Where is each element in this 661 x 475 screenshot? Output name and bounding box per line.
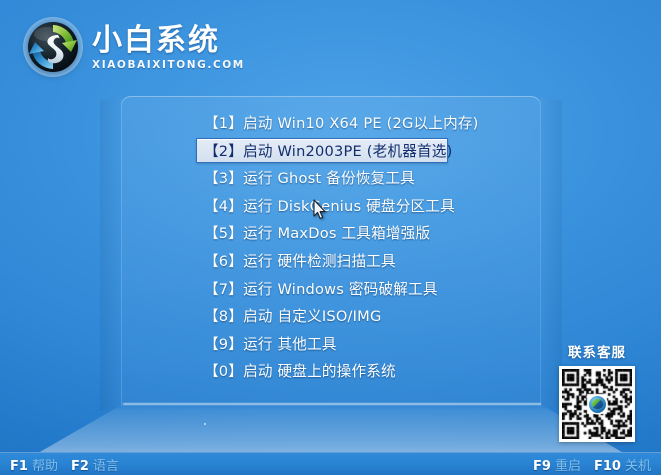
brand-name-cn: 小白系统	[92, 25, 245, 57]
dust-speck	[204, 423, 206, 425]
status-key-name: F9	[533, 459, 551, 474]
menu-item-label: 【9】运行 其他工具	[204, 333, 337, 354]
menu-item-0[interactable]: 【0】启动 硬盘上的操作系统	[196, 358, 448, 383]
status-key-label: 关机	[625, 455, 651, 474]
menu-item-5[interactable]: 【5】运行 MaxDos 工具箱增强版	[196, 220, 448, 245]
menu-item-label: 【1】启动 Win10 X64 PE (2G以上内存)	[204, 112, 479, 133]
customer-service-block: 联系客服	[550, 341, 644, 442]
customer-service-title: 联系客服	[550, 341, 644, 361]
qr-center-logo-icon	[589, 396, 606, 413]
brand-name-en: XIAOBAIXITONG.COM	[92, 59, 245, 71]
status-key-f10[interactable]: F10关机	[594, 455, 651, 474]
status-bar-right-group: F9重启F10关机	[533, 455, 651, 474]
status-key-f1[interactable]: F1帮助	[10, 455, 58, 474]
menu-item-9[interactable]: 【9】运行 其他工具	[196, 331, 448, 356]
menu-item-1[interactable]: 【1】启动 Win10 X64 PE (2G以上内存)	[196, 110, 448, 135]
menu-item-label: 【3】运行 Ghost 备份恢复工具	[204, 167, 415, 188]
menu-item-6[interactable]: 【6】运行 硬件检测扫描工具	[196, 248, 448, 273]
status-key-label: 帮助	[32, 455, 58, 474]
status-key-name: F2	[71, 459, 89, 474]
recycle-circle-logo-icon	[22, 16, 84, 78]
status-key-name: F10	[594, 459, 621, 474]
menu-item-label: 【8】启动 自定义ISO/IMG	[204, 305, 381, 326]
menu-item-7[interactable]: 【7】运行 Windows 密码破解工具	[196, 276, 448, 301]
menu-item-label: 【7】运行 Windows 密码破解工具	[204, 278, 438, 299]
menu-item-label: 【6】运行 硬件检测扫描工具	[204, 250, 396, 271]
status-key-f2[interactable]: F2语言	[71, 455, 119, 474]
boot-menu-list[interactable]: 【1】启动 Win10 X64 PE (2G以上内存)【2】启动 Win2003…	[196, 110, 448, 386]
menu-item-label: 【4】运行 DiskGenius 硬盘分区工具	[204, 195, 455, 216]
menu-item-label: 【0】启动 硬盘上的操作系统	[204, 360, 396, 381]
menu-item-label: 【5】运行 MaxDos 工具箱增强版	[204, 222, 430, 243]
menu-item-2[interactable]: 【2】启动 Win2003PE (老机器首选)	[196, 138, 448, 163]
boot-menu-screen: 小白系统 XIAOBAIXITONG.COM 【1】启动 Win10 X64 P…	[0, 0, 661, 475]
qr-code-icon[interactable]	[559, 366, 635, 442]
menu-item-3[interactable]: 【3】运行 Ghost 备份恢复工具	[196, 165, 448, 190]
status-bar: F1帮助F2语言 F9重启F10关机	[0, 452, 661, 475]
status-key-label: 重启	[555, 455, 581, 474]
brand-logo: 小白系统 XIAOBAIXITONG.COM	[22, 16, 245, 78]
brand-wordmark: 小白系统 XIAOBAIXITONG.COM	[92, 25, 245, 71]
menu-item-4[interactable]: 【4】运行 DiskGenius 硬盘分区工具	[196, 193, 448, 218]
menu-item-8[interactable]: 【8】启动 自定义ISO/IMG	[196, 303, 448, 328]
status-key-f9[interactable]: F9重启	[533, 455, 581, 474]
menu-item-label: 【2】启动 Win2003PE (老机器首选)	[204, 140, 452, 161]
status-key-name: F1	[10, 459, 28, 474]
status-key-label: 语言	[93, 455, 119, 474]
stage-left-edge	[100, 96, 122, 411]
status-bar-left-group: F1帮助F2语言	[10, 455, 119, 474]
